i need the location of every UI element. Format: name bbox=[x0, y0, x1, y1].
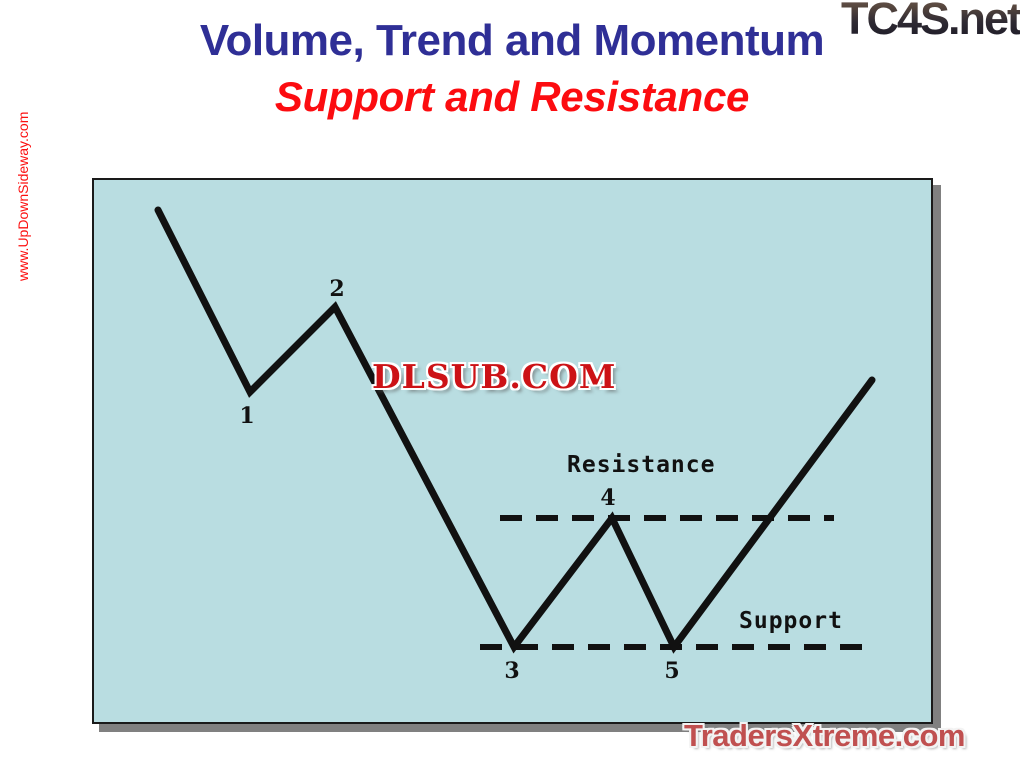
resistance-label: Resistance bbox=[567, 452, 715, 478]
support-resistance-chart: 12345 ResistanceSupport bbox=[94, 180, 933, 724]
pivot-label-1: 1 bbox=[239, 403, 254, 429]
pivot-label-4: 4 bbox=[600, 485, 615, 511]
pivot-label-5: 5 bbox=[664, 658, 679, 684]
price-path-group bbox=[158, 210, 872, 647]
tradersxtreme-watermark: TradersXtreme.com bbox=[684, 718, 965, 754]
page-title-secondary: Support and Resistance bbox=[0, 72, 1024, 122]
pivot-label-3: 3 bbox=[504, 658, 519, 684]
support-label: Support bbox=[739, 608, 843, 634]
pivot-label-2: 2 bbox=[329, 276, 344, 302]
dlsub-watermark: DLSUB.COM bbox=[372, 358, 616, 396]
chart-panel: 12345 ResistanceSupport bbox=[92, 178, 933, 724]
tc4s-watermark: TC4S.net bbox=[841, 0, 1020, 41]
price-path bbox=[158, 210, 872, 647]
